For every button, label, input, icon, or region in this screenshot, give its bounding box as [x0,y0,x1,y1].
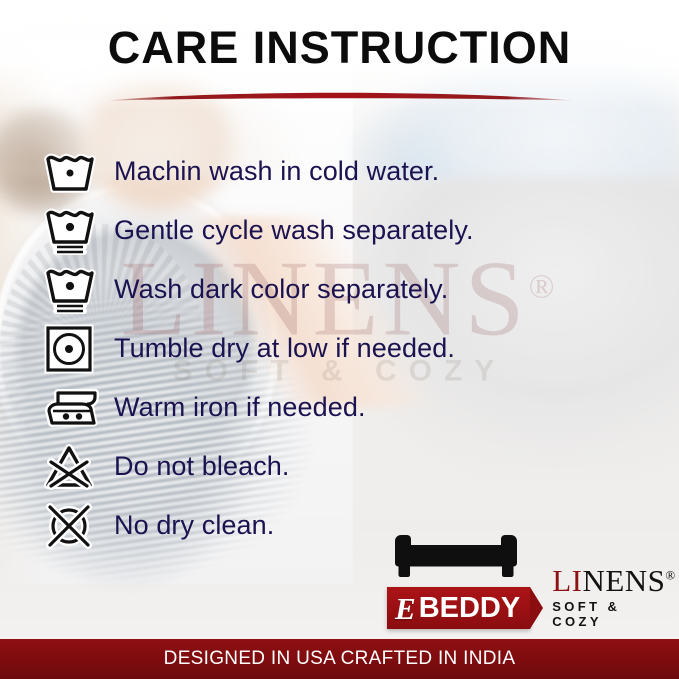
registered-trademark-icon: ® [665,568,675,583]
instruction-text: Do not bleach. [114,451,290,482]
instruction-row: Machin wash in cold water. [44,142,644,201]
instruction-text: Tumble dry at low if needed. [114,333,455,364]
instruction-row: Warm iron if needed. [44,378,644,437]
logo-wordmark: E BEDDY LINENS® SOFT & COZY [387,565,676,629]
brand-logo: E BEDDY LINENS® SOFT & COZY [387,533,665,633]
iron-two-dots-icon [44,387,114,429]
title-divider-icon [105,88,575,104]
beddy-banner: E BEDDY [387,587,530,629]
instruction-row: Do not bleach. [44,437,644,496]
logo-tagline: SOFT & COZY [552,599,676,629]
page-title: CARE INSTRUCTION [0,22,679,74]
instruction-text: Warm iron if needed. [114,392,366,423]
linens-wordmark: LINENS® [552,565,676,596]
instruction-text: No dry clean. [114,510,274,541]
script-e-icon: E [395,593,416,624]
wash-tub-one-dot-icon [44,151,114,193]
care-instruction-card: LINENS® SOFT & COZY CARE INSTRUCTION [0,0,679,679]
beddy-wordmark: BEDDY [419,594,521,623]
linens-rest: NENS [582,563,665,598]
instruction-row: Tumble dry at low if needed. [44,319,644,378]
instruction-list: Machin wash in cold water. [44,142,644,555]
linens-block: LINENS® SOFT & COZY [552,565,676,629]
tumble-dry-low-icon [44,324,114,374]
wash-tub-one-dot-two-bars-icon [44,206,114,256]
instruction-row: Wash dark color separately. [44,260,644,319]
instruction-text: Wash dark color separately. [114,274,448,305]
linens-li: LI [552,563,582,598]
instruction-row: Gentle cycle wash separately. [44,201,644,260]
title-area: CARE INSTRUCTION [0,22,679,74]
no-dry-clean-icon [44,501,114,551]
footer-banner: DESIGNED IN USA CRAFTED IN INDIA [0,639,679,679]
footer-text: DESIGNED IN USA CRAFTED IN INDIA [164,648,516,670]
do-not-bleach-icon [44,443,114,491]
wash-tub-one-dot-two-bars-icon [44,265,114,315]
instruction-text: Gentle cycle wash separately. [114,215,474,246]
instruction-text: Machin wash in cold water. [114,156,439,187]
